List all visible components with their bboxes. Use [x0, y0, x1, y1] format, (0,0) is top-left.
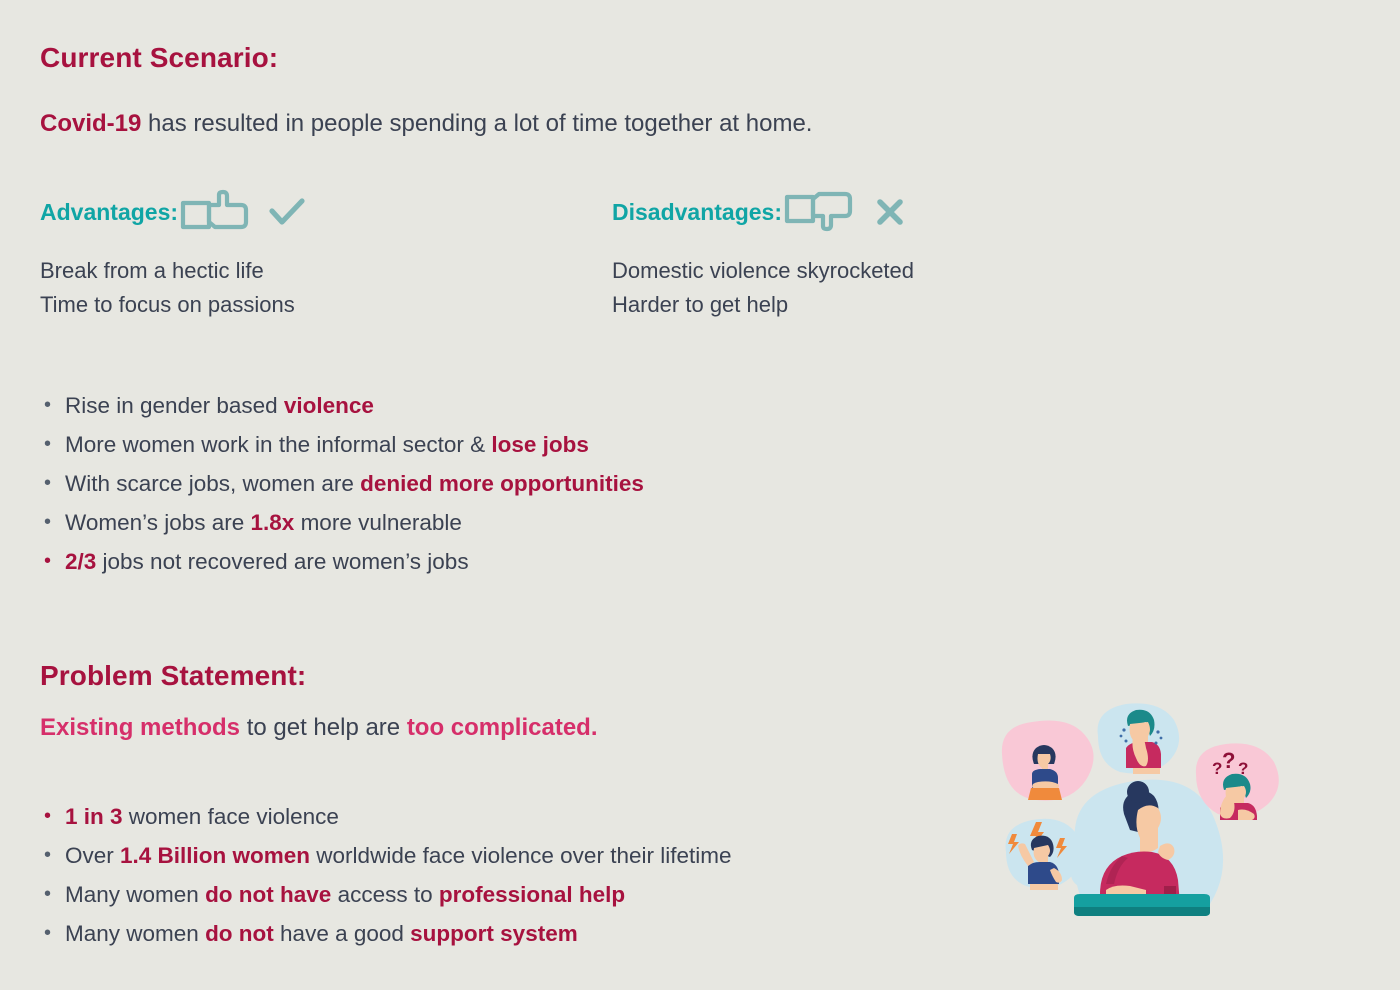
list-item-3-run-3: support system [410, 921, 578, 946]
disadvantages-line-1: Domestic violence skyrocketed [612, 254, 914, 288]
list-item-4-run-1: jobs not recovered are women’s jobs [96, 549, 468, 574]
disadvantages-header: Disadvantages: [612, 190, 914, 234]
problem-statement-lede-run-1: to get help are [240, 714, 407, 741]
problem-statement-lede: Existing methods to get help are too com… [40, 714, 598, 743]
list-item: 1 in 3 women face violence [40, 797, 731, 836]
list-item-1-run-2: worldwide face violence over their lifet… [310, 843, 731, 868]
problem-statement-bullet-list: 1 in 3 women face violenceOver 1.4 Billi… [40, 797, 731, 953]
waist [1030, 884, 1058, 890]
cross-icon [872, 194, 908, 230]
list-item: With scarce jobs, women are denied more … [40, 464, 644, 503]
problem-statement-lede-run-0: Existing methods [40, 714, 240, 741]
list-item-1-run-1: 1.4 Billion women [120, 843, 310, 868]
advantages-label: Advantages: [40, 199, 178, 226]
list-item-2-run-2: access to [331, 882, 439, 907]
svg-text:?: ? [1222, 748, 1235, 773]
slide-root: Current Scenario: Covid-19 has resulted … [0, 0, 1400, 990]
list-item-3-run-2: more vulnerable [294, 510, 462, 535]
problem-statement-lede-run-2: too complicated. [407, 714, 598, 741]
list-item-2-run-0: Many women [65, 882, 205, 907]
current-scenario-bullet-list: Rise in gender based violenceMore women … [40, 386, 644, 581]
list-item: Women’s jobs are 1.8x more vulnerable [40, 503, 644, 542]
list-item-3-run-0: Women’s jobs are [65, 510, 251, 535]
woman-thinking-with-thought-bubbles-illustration: ? ? ? [988, 698, 1288, 930]
list-item-0-run-1: women face violence [123, 804, 339, 829]
list-item-0-run-1: violence [284, 393, 374, 418]
bubble-angry-lightning [1006, 819, 1082, 890]
list-item-0-run-0: Rise in gender based [65, 393, 284, 418]
list-item-1-run-0: More women work in the informal sector & [65, 432, 491, 457]
advantages-header: Advantages: [40, 190, 307, 234]
list-item-1-run-1: lose jobs [491, 432, 589, 457]
page-title-problem-statement: Problem Statement: [40, 660, 306, 692]
list-item: 2/3 jobs not recovered are women’s jobs [40, 542, 644, 581]
list-item-2-run-0: With scarce jobs, women are [65, 471, 360, 496]
list-item-2-run-3: professional help [439, 882, 625, 907]
list-item: Many women do not have access to profess… [40, 875, 731, 914]
thumbs-down-icon [783, 189, 869, 235]
list-item-2-run-1: denied more opportunities [360, 471, 644, 496]
advantages-icon-group [179, 189, 307, 235]
advantages-line-1: Break from a hectic life [40, 254, 307, 288]
lede-rest: has resulted in people spending a lot of… [141, 110, 812, 137]
list-item: Many women do not have a good support sy… [40, 914, 731, 953]
bubble-arms-crossed [1002, 721, 1094, 801]
disadvantages-column: Disadvantages: Domes [612, 190, 914, 322]
current-scenario-lede: Covid-19 has resulted in people spending… [40, 110, 812, 139]
advantages-lines: Break from a hectic life Time to focus o… [40, 254, 307, 322]
list-item-2-run-1: do not have [205, 882, 331, 907]
advantages-line-2: Time to focus on passions [40, 288, 307, 322]
face [1136, 805, 1161, 852]
hair-bun [1127, 781, 1149, 803]
lede-highlight-covid: Covid-19 [40, 110, 141, 137]
disadvantages-lines: Domestic violence skyrocketed Harder to … [612, 254, 914, 322]
list-item-3-run-1: do not [205, 921, 274, 946]
list-item-1-run-0: Over [65, 843, 120, 868]
disadvantages-label: Disadvantages: [612, 199, 782, 226]
bubble-crying [1098, 703, 1180, 774]
waist [1133, 768, 1160, 774]
check-icon [267, 194, 307, 230]
advantages-column: Advantages: Break from a hectic life Tim… [40, 190, 307, 322]
thumbs-up-icon [179, 189, 265, 235]
disadvantages-icon-group [783, 189, 908, 235]
list-item-3-run-0: Many women [65, 921, 205, 946]
page-title-current-scenario: Current Scenario: [40, 42, 278, 74]
disadvantages-line-2: Harder to get help [612, 288, 914, 322]
svg-text:?: ? [1212, 759, 1222, 778]
list-item-4-run-0: 2/3 [65, 549, 96, 574]
list-item-0-run-0: 1 in 3 [65, 804, 123, 829]
list-item: Rise in gender based violence [40, 386, 644, 425]
list-item-3-run-2: have a good [274, 921, 410, 946]
desk-edge [1074, 907, 1210, 916]
list-item: More women work in the informal sector &… [40, 425, 644, 464]
skirt [1028, 788, 1062, 800]
list-item-3-run-1: 1.8x [251, 510, 295, 535]
list-item: Over 1.4 Billion women worldwide face vi… [40, 836, 731, 875]
